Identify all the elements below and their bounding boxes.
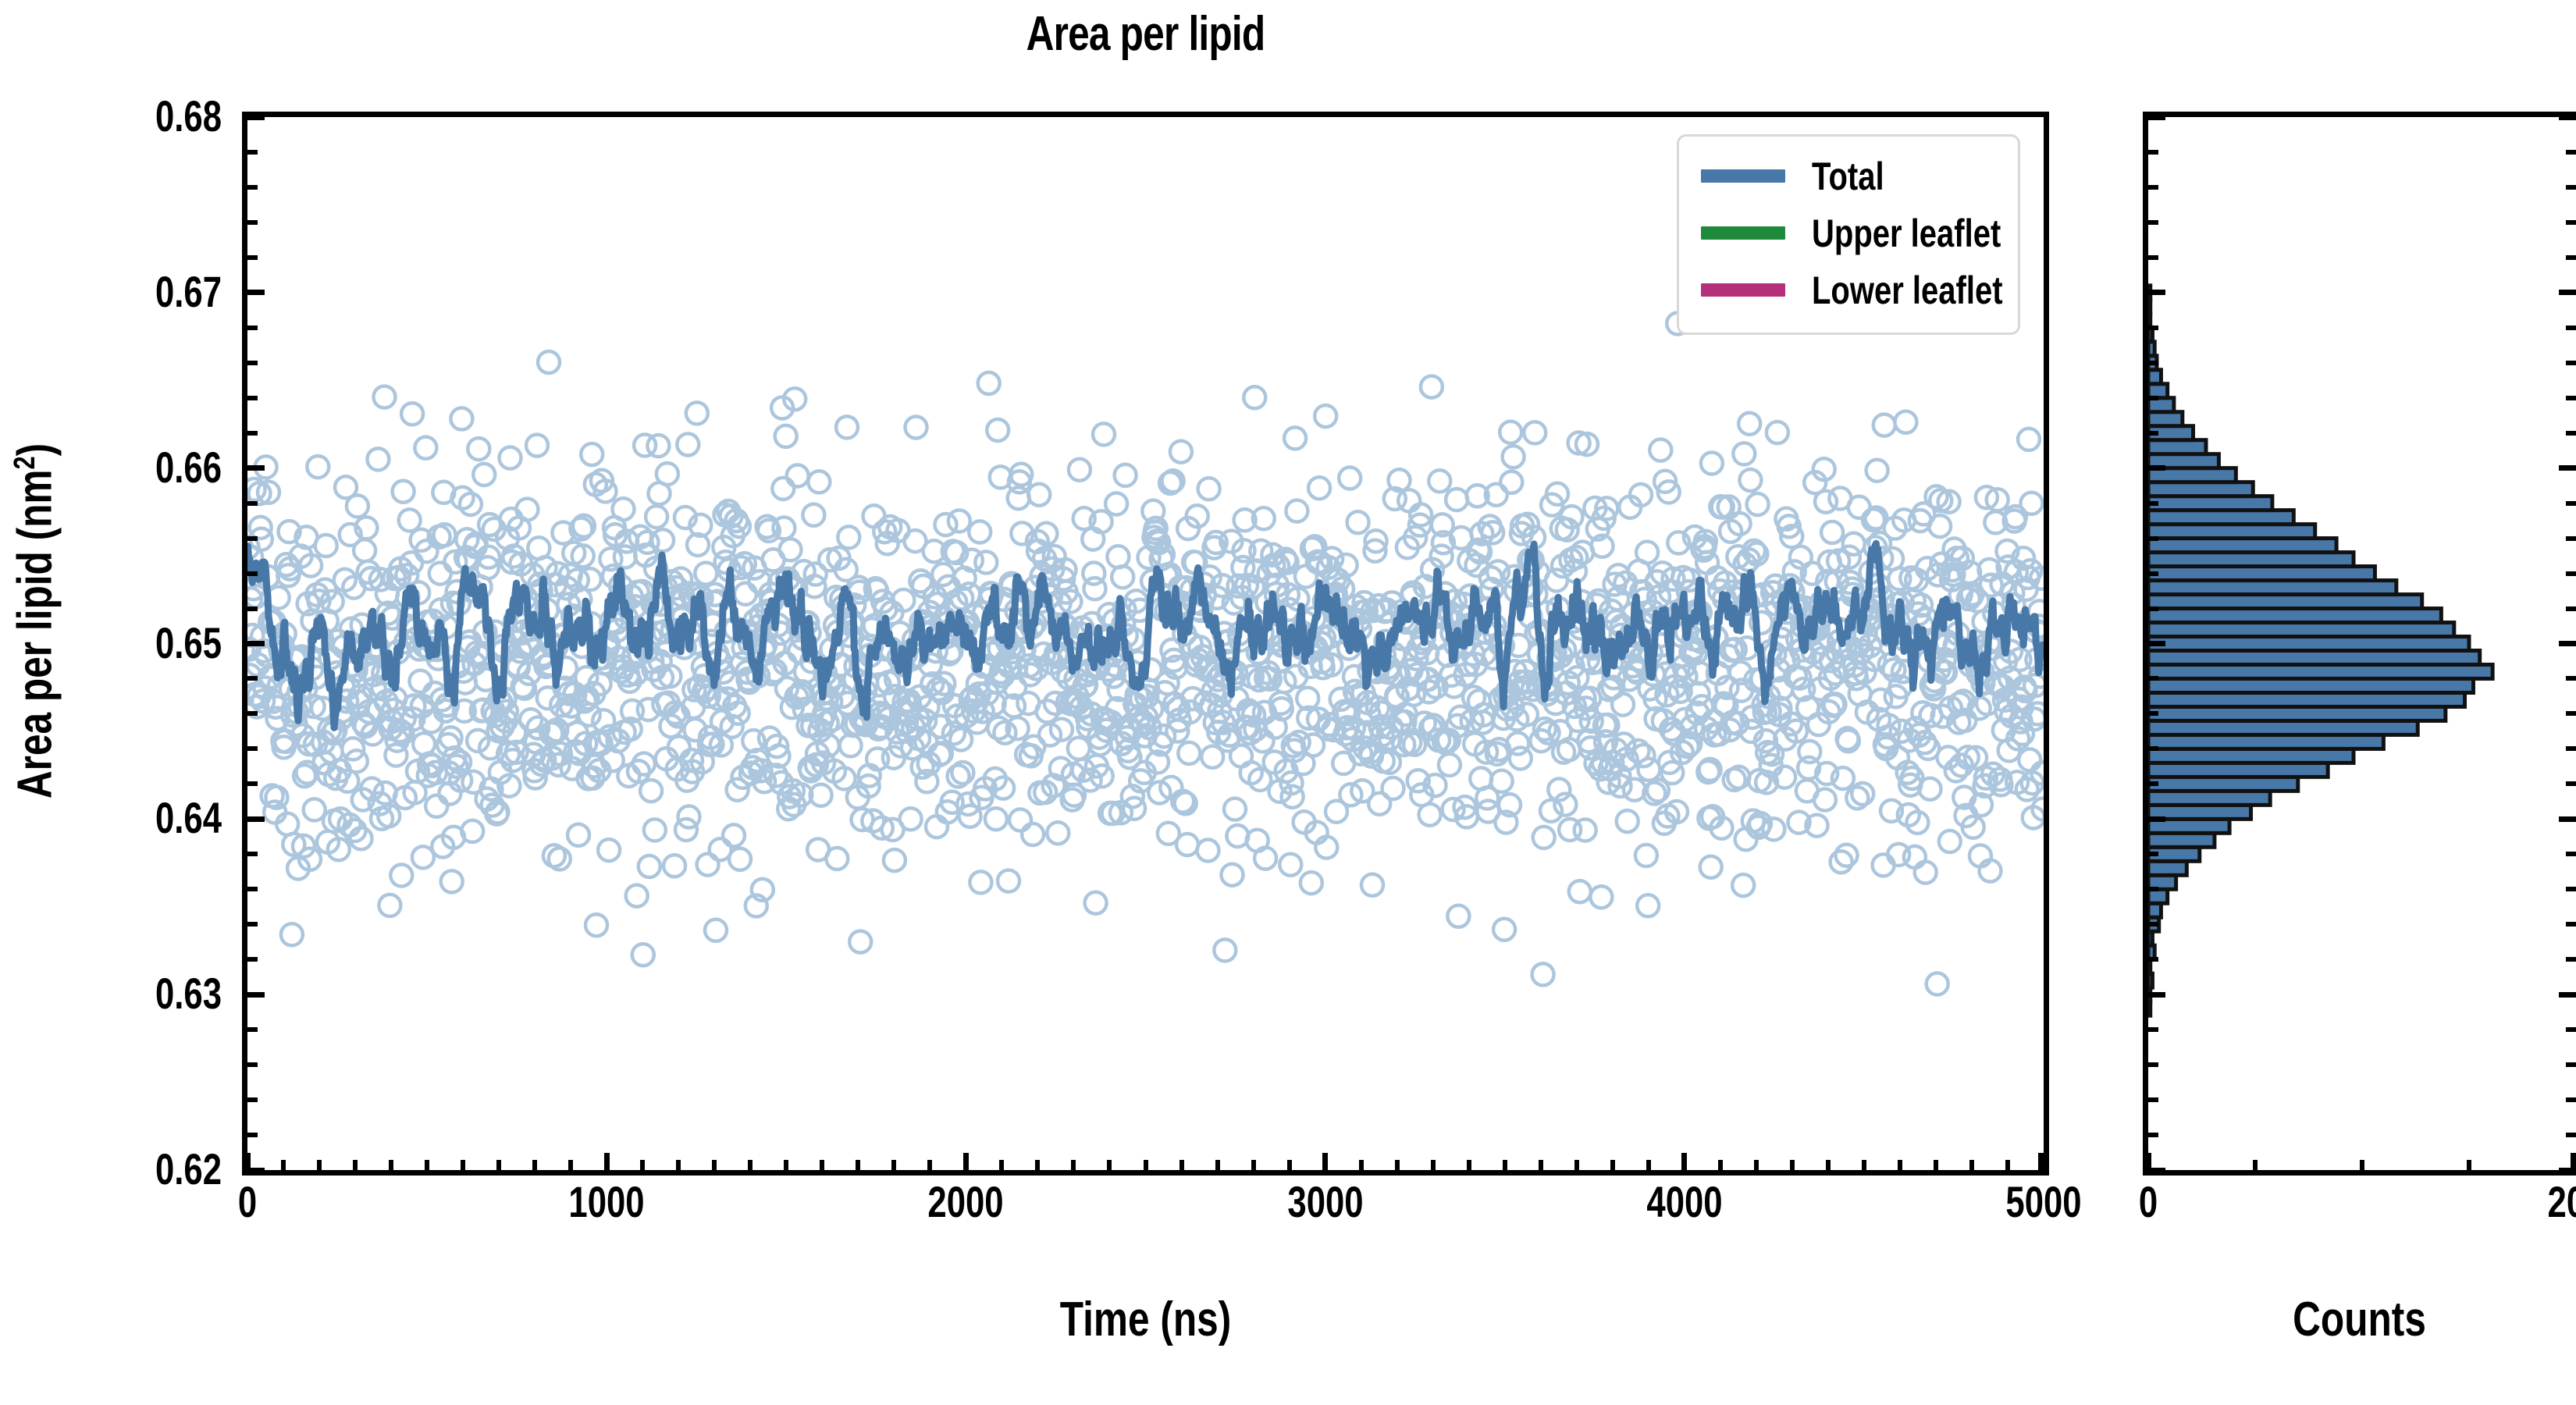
hist-y-tick-major-right (2559, 816, 2576, 822)
hist-y-tick-minor (2148, 1062, 2158, 1067)
y-tick-minor (247, 571, 258, 576)
y-tick-label: 0.63 (155, 968, 222, 1019)
hist-y-tick-major (2148, 290, 2165, 295)
x-tick-label: 2000 (869, 1176, 1064, 1227)
histogram-panel (2143, 112, 2576, 1176)
x-tick-minor (317, 1160, 322, 1170)
y-tick-major (247, 816, 265, 822)
y-tick-minor (247, 957, 258, 962)
legend-label-lower-leaflet: Lower leaflet (1812, 268, 2003, 313)
hist-y-tick-minor-right (2566, 536, 2576, 541)
x-tick-minor (1144, 1160, 1148, 1170)
histogram-bar (2148, 300, 2151, 314)
histogram-bar (2148, 931, 2152, 945)
hist-y-tick-minor (2148, 957, 2158, 962)
hist-y-tick-minor (2148, 571, 2158, 576)
hist-x-tick-major (2571, 1153, 2576, 1170)
hist-x-tick-label: 0 (2051, 1176, 2246, 1227)
x-tick-minor (640, 1160, 645, 1170)
hist-y-tick-minor (2148, 185, 2158, 190)
x-tick-major (963, 1153, 969, 1170)
histogram-bar (2148, 609, 2441, 623)
x-tick-label: 4000 (1587, 1176, 1782, 1227)
x-tick-minor (1574, 1160, 1579, 1170)
x-tick-minor (1610, 1160, 1615, 1170)
legend-label-upper-leaflet: Upper leaflet (1812, 211, 2001, 256)
chart-title: Area per lipid (423, 6, 1869, 62)
hist-y-tick-minor (2148, 606, 2158, 611)
x-tick-minor (1071, 1160, 1076, 1170)
x-tick-major (245, 1153, 251, 1170)
hist-y-tick-major-right (2559, 992, 2576, 998)
hist-y-tick-minor (2148, 325, 2158, 330)
hist-y-tick-minor-right (2566, 325, 2576, 330)
legend[interactable]: Total Upper leaflet Lower leaflet (1677, 134, 2020, 335)
hist-y-tick-minor-right (2566, 781, 2576, 786)
hist-y-tick-minor (2148, 1133, 2158, 1137)
histogram-bar (2148, 664, 2492, 678)
chart-figure: Area per lipid 0.620.630.640.650.660.670… (0, 0, 2576, 1405)
histogram-bar (2148, 678, 2473, 692)
y-tick-minor (247, 887, 258, 891)
histogram-bar (2148, 553, 2354, 567)
hist-y-tick-minor (2148, 711, 2158, 716)
x-tick-minor (461, 1160, 465, 1170)
y-tick-minor (247, 781, 258, 786)
hist-y-tick-minor-right (2566, 676, 2576, 681)
histogram-bar (2148, 637, 2469, 651)
x-tick-minor (1718, 1160, 1723, 1170)
hist-y-tick-major (2148, 641, 2165, 646)
x-tick-minor (820, 1160, 824, 1170)
hist-y-tick-minor (2148, 501, 2158, 506)
hist-y-tick-minor (2148, 361, 2158, 365)
y-tick-minor (247, 361, 258, 365)
hist-y-tick-minor (2148, 746, 2158, 751)
hist-y-tick-minor (2148, 396, 2158, 400)
x-tick-minor (1431, 1160, 1436, 1170)
y-tick-major (247, 465, 265, 471)
hist-y-tick-minor-right (2566, 1133, 2576, 1137)
x-tick-minor (927, 1160, 932, 1170)
histogram-canvas (2148, 117, 2576, 1170)
y-tick-minor (247, 325, 258, 330)
hist-x-tick-major (2146, 1153, 2151, 1170)
x-tick-minor (1790, 1160, 1795, 1170)
legend-label-total: Total (1812, 154, 1884, 199)
y-tick-minor (247, 220, 258, 225)
x-tick-minor (2005, 1160, 2010, 1170)
x-tick-label: 0 (150, 1176, 345, 1227)
x-tick-minor (353, 1160, 358, 1170)
histogram-bar (2148, 973, 2152, 987)
y-tick-minor (247, 501, 258, 506)
x-tick-minor (1359, 1160, 1364, 1170)
x-tick-minor (1646, 1160, 1651, 1170)
histogram-bar (2148, 482, 2253, 496)
histogram-bar (2148, 370, 2161, 384)
hist-y-tick-major (2148, 992, 2165, 998)
x-tick-label: 3000 (1228, 1176, 1423, 1227)
hist-y-tick-minor-right (2566, 711, 2576, 716)
y-tick-minor (247, 711, 258, 716)
x-tick-label: 1000 (509, 1176, 704, 1227)
x-tick-minor (532, 1160, 537, 1170)
hist-y-tick-minor-right (2566, 150, 2576, 155)
x-tick-major (2038, 1153, 2044, 1170)
histogram-bar (2148, 791, 2270, 805)
hist-y-tick-minor-right (2566, 185, 2576, 190)
x-tick-minor (712, 1160, 717, 1170)
hist-y-tick-major (2148, 465, 2165, 471)
histogram-bar (2148, 539, 2336, 553)
hist-y-tick-minor-right (2566, 1027, 2576, 1032)
hist-y-tick-minor-right (2566, 1097, 2576, 1102)
y-tick-minor (247, 431, 258, 436)
histogram-bar (2148, 412, 2183, 426)
x-tick-minor (1395, 1160, 1400, 1170)
y-tick-label: 0.66 (155, 442, 222, 493)
y-tick-label: 0.65 (155, 617, 222, 668)
histogram-bar (2148, 581, 2396, 595)
histogram-bar (2148, 496, 2272, 510)
hist-y-tick-major-right (2559, 115, 2576, 120)
histogram-bar (2148, 623, 2454, 637)
x-tick-major (604, 1153, 610, 1170)
legend-swatch-upper-leaflet (1701, 226, 1785, 240)
hist-x-tick-minor (2253, 1160, 2258, 1170)
histogram-bar (2148, 763, 2328, 777)
y-axis-label-tail: ) (9, 443, 62, 457)
y-tick-minor (247, 1133, 258, 1137)
y-tick-minor (247, 255, 258, 260)
x-tick-minor (1179, 1160, 1184, 1170)
hist-y-tick-minor (2148, 220, 2158, 225)
y-tick-major (247, 992, 265, 998)
x-tick-minor (389, 1160, 393, 1170)
x-tick-minor (891, 1160, 896, 1170)
legend-item-total[interactable]: Total (1679, 148, 2018, 205)
x-tick-major (1681, 1153, 1687, 1170)
x-tick-minor (999, 1160, 1004, 1170)
y-axis-label-main: Area per lipid (nm (9, 469, 62, 799)
histogram-bar (2148, 650, 2480, 664)
legend-swatch-total (1701, 169, 1785, 183)
hist-y-tick-minor (2148, 150, 2158, 155)
x-tick-minor (1107, 1160, 1112, 1170)
x-tick-minor (1934, 1160, 1938, 1170)
hist-y-tick-minor-right (2566, 501, 2576, 506)
x-tick-minor (568, 1160, 573, 1170)
x-tick-minor (1826, 1160, 1831, 1170)
x-tick-minor (1862, 1160, 1866, 1170)
x-tick-minor (748, 1160, 753, 1170)
hist-y-tick-major-right (2559, 290, 2576, 295)
x-tick-minor (856, 1160, 860, 1170)
hist-y-tick-minor (2148, 255, 2158, 260)
histogram-bar (2148, 510, 2293, 525)
histogram-bar (2148, 1001, 2151, 1016)
histogram-bar (2148, 833, 2215, 847)
x-tick-minor (1035, 1160, 1040, 1170)
x-tick-minor (676, 1160, 681, 1170)
x-tick-minor (1251, 1160, 1256, 1170)
x-axis-label: Time (ns) (423, 1292, 1869, 1347)
hist-y-tick-minor-right (2566, 746, 2576, 751)
y-tick-minor (247, 150, 258, 155)
y-tick-minor (247, 396, 258, 400)
histogram-bar (2148, 903, 2161, 917)
hist-x-tick-label: 200 (2478, 1176, 2576, 1227)
legend-item-lower-leaflet[interactable]: Lower leaflet (1679, 261, 2018, 318)
y-tick-minor (247, 606, 258, 611)
x-tick-minor (425, 1160, 429, 1170)
y-tick-major (247, 290, 265, 295)
histogram-bar (2148, 749, 2354, 763)
x-tick-minor (784, 1160, 788, 1170)
hist-y-tick-major-right (2559, 465, 2576, 471)
hist-y-tick-minor-right (2566, 431, 2576, 436)
x-tick-minor (1503, 1160, 1507, 1170)
y-tick-minor (247, 1097, 258, 1102)
y-tick-major (247, 115, 265, 120)
x-tick-minor (1539, 1160, 1543, 1170)
histogram-bar (2148, 735, 2383, 749)
y-tick-major (247, 641, 265, 646)
y-tick-minor (247, 1062, 258, 1067)
y-tick-minor (247, 852, 258, 856)
hist-y-tick-minor-right (2566, 1062, 2576, 1067)
hist-y-tick-minor-right (2566, 255, 2576, 260)
histogram-bar (2148, 777, 2298, 791)
x-tick-minor (1754, 1160, 1759, 1170)
histogram-bar (2148, 567, 2375, 581)
histogram-bar (2148, 706, 2446, 720)
hist-y-tick-minor-right (2566, 571, 2576, 576)
y-tick-label: 0.67 (155, 266, 222, 317)
hist-y-tick-major (2148, 816, 2165, 822)
histogram-x-axis-label: Counts (2186, 1292, 2533, 1347)
hist-y-tick-minor-right (2566, 396, 2576, 400)
x-tick-minor (1467, 1160, 1471, 1170)
y-axis-label-superscript: 2 (8, 456, 41, 469)
histogram-bar (2148, 720, 2418, 735)
histogram-bar (2148, 861, 2186, 875)
hist-y-tick-major (2148, 115, 2165, 120)
x-tick-major (1322, 1153, 1328, 1170)
hist-y-tick-minor (2148, 852, 2158, 856)
y-tick-minor (247, 536, 258, 541)
x-tick-minor (496, 1160, 501, 1170)
hist-x-tick-minor (2360, 1160, 2364, 1170)
hist-y-tick-minor (2148, 1097, 2158, 1102)
y-tick-minor (247, 746, 258, 751)
hist-y-tick-minor (2148, 431, 2158, 436)
hist-y-tick-minor (2148, 922, 2158, 927)
x-tick-minor (1287, 1160, 1292, 1170)
hist-y-tick-minor-right (2566, 957, 2576, 962)
hist-y-tick-minor (2148, 781, 2158, 786)
x-tick-minor (281, 1160, 286, 1170)
hist-y-tick-minor (2148, 536, 2158, 541)
legend-swatch-lower-leaflet (1701, 283, 1785, 297)
hist-x-tick-minor (2467, 1160, 2471, 1170)
y-tick-minor (247, 185, 258, 190)
histogram-bar (2148, 440, 2206, 454)
y-tick-label: 0.68 (155, 91, 222, 141)
x-tick-minor (1898, 1160, 1902, 1170)
x-tick-minor (1969, 1160, 1974, 1170)
x-tick-minor (1215, 1160, 1220, 1170)
y-axis-label: Area per lipid (nm2) (8, 247, 63, 996)
legend-item-upper-leaflet[interactable]: Upper leaflet (1679, 205, 2018, 261)
y-tick-minor (247, 922, 258, 927)
hist-y-tick-minor-right (2566, 922, 2576, 927)
hist-y-tick-minor (2148, 676, 2158, 681)
hist-y-tick-major-right (2559, 641, 2576, 646)
y-tick-label: 0.64 (155, 792, 222, 843)
hist-y-tick-minor-right (2566, 361, 2576, 365)
y-tick-minor (247, 676, 258, 681)
hist-y-tick-minor-right (2566, 852, 2576, 856)
histogram-bar (2148, 595, 2422, 609)
histogram-bar (2148, 342, 2154, 356)
histogram-bar (2148, 525, 2315, 539)
hist-y-tick-minor (2148, 887, 2158, 891)
histogram-bar (2148, 692, 2465, 706)
hist-y-tick-minor-right (2566, 220, 2576, 225)
hist-y-tick-minor (2148, 1027, 2158, 1032)
y-tick-minor (247, 1027, 258, 1032)
hist-y-tick-minor-right (2566, 887, 2576, 891)
hist-y-tick-minor-right (2566, 606, 2576, 611)
